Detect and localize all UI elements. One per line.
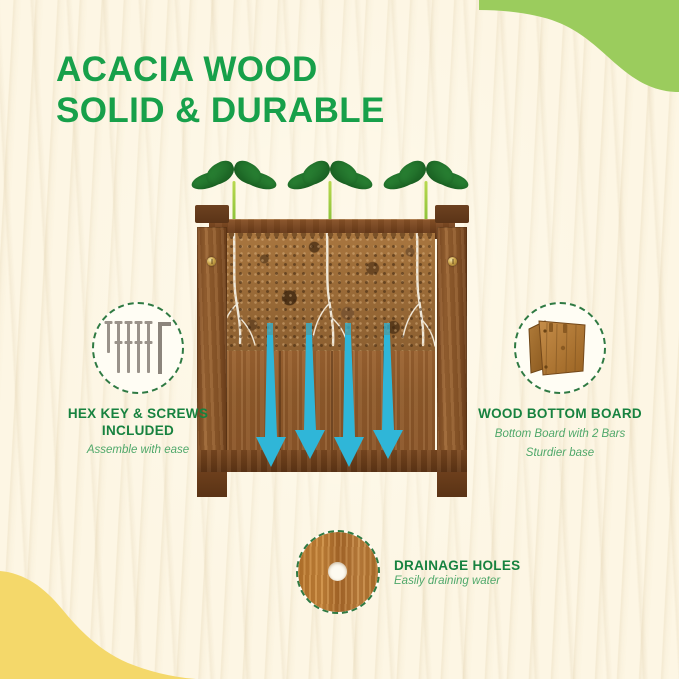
panel-seam [331,351,333,450]
seedling-2 [287,161,373,221]
stem [233,181,236,221]
brass-screw [448,257,457,266]
post-cap-right [435,205,469,223]
wood-disc [298,532,378,612]
callout-drainage-holes: DRAINAGE HOLES Easily draining water [296,530,596,614]
hex-key-glyph [158,322,171,374]
post-cap-left [195,205,229,223]
screws-hexkey-glyph [102,317,174,379]
callout-hex-key-screws: HEX KEY & SCREWS INCLUDED Assemble with … [40,302,236,458]
wood-board-glyph [523,315,597,381]
callout-subtitle: Assemble with ease [40,443,236,457]
callout-title: DRAINAGE HOLES [394,558,520,573]
screws-and-hex-key-icon [92,302,184,394]
drainage-hole [328,562,347,581]
panel-seam [279,351,281,450]
green-corner-blob [479,0,679,92]
root-system [227,233,435,351]
planter-bottom-rail [197,450,467,472]
yellow-corner-blob [0,547,200,679]
wood-board-icon [514,302,606,394]
page-title: ACACIA WOOD SOLID & DURABLE [56,50,385,131]
infographic-canvas: ACACIA WOOD SOLID & DURABLE [0,0,679,679]
panel-seam [383,351,385,450]
brass-screw [207,257,216,266]
callout-subtitle-line-1: Bottom Board with 2 Bars [452,427,668,442]
headline-line-2: SOLID & DURABLE [56,91,385,132]
planter-leg-right [437,472,467,497]
callout-title: HEX KEY & SCREWS INCLUDED [40,406,236,439]
callout-text: DRAINAGE HOLES Easily draining water [394,558,520,587]
soil-cross-section [227,233,435,351]
planter-leg-left [197,472,227,497]
wood-disc-with-hole-icon [296,530,380,614]
planter-front-panel [227,351,435,450]
callout-subtitle: Easily draining water [394,575,520,587]
stem [425,181,428,221]
stem [329,181,332,221]
headline-line-1: ACACIA WOOD [56,50,318,89]
callout-title: WOOD BOTTOM BOARD [452,406,668,423]
callout-wood-bottom-board: WOOD BOTTOM BOARD Bottom Board with 2 Ba… [452,302,668,461]
callout-subtitle-line-2: Sturdier base [452,446,668,461]
